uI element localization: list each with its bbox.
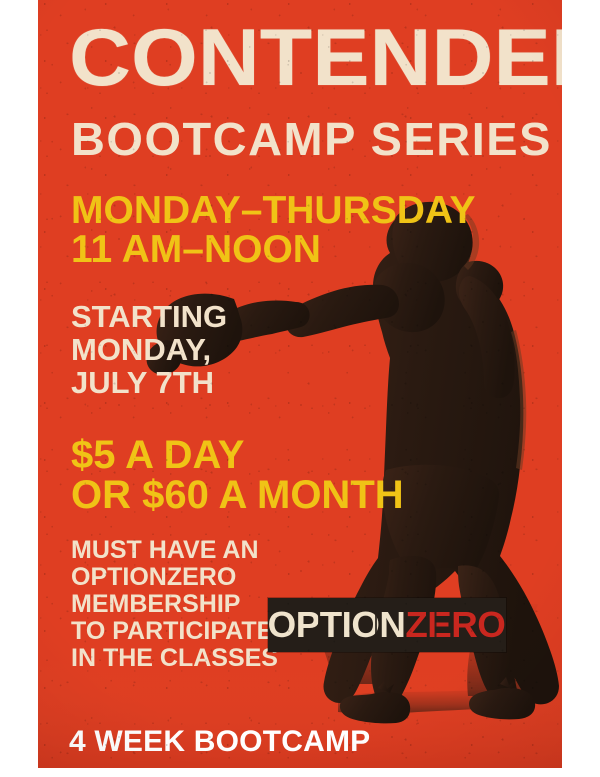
requirement-line-5: IN THE CLASSES (71, 647, 278, 670)
schedule-time: 11 AM–NOON (71, 232, 321, 268)
footer-tagline: 4 WEEK BOOTCAMP (69, 727, 370, 757)
page-subtitle: BOOTCAMP SERIES (71, 118, 552, 161)
logo-word-zero: ZERO (406, 604, 506, 645)
price-monthly: OR $60 A MONTH (71, 477, 404, 514)
poster-stage: CONTENDER BOOTCAMP SERIES MONDAY–THURSDA… (0, 0, 600, 777)
poster-panel: CONTENDER BOOTCAMP SERIES MONDAY–THURSDA… (38, 0, 562, 768)
requirement-line-4: TO PARTICIPATE (71, 620, 273, 643)
optionzero-logo-text: OPTIONZERO (268, 607, 506, 643)
requirement-line-3: MEMBERSHIP (71, 593, 240, 616)
optionzero-logo-badge: OPTIONZERO (268, 598, 506, 652)
price-daily: $5 A DAY (71, 437, 244, 474)
start-date-line-1: STARTING (71, 303, 227, 332)
logo-word-option: OPTION (268, 604, 406, 645)
schedule-days: MONDAY–THURSDAY (71, 193, 476, 229)
requirement-line-2: OPTIONZERO (71, 566, 236, 589)
start-date-line-3: JULY 7TH (71, 369, 214, 398)
page-title: CONTENDER (69, 21, 562, 96)
requirement-line-1: MUST HAVE AN (71, 539, 259, 562)
start-date-line-2: MONDAY, (71, 336, 211, 365)
